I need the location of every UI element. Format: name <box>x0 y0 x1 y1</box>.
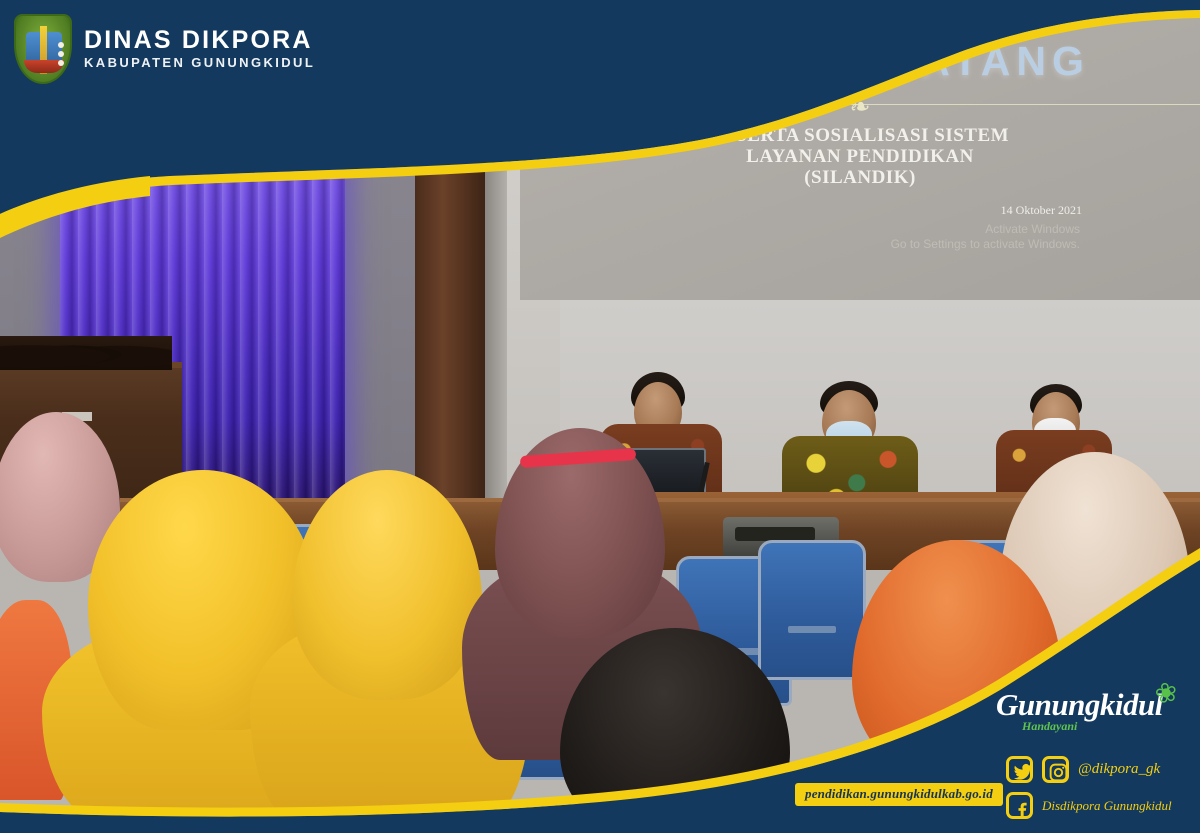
poster-header: DINAS DIKPORA KABUPATEN GUNUNGKIDUL <box>14 14 315 84</box>
page-subtitle: KABUPATEN GUNUNGKIDUL <box>84 55 315 71</box>
facebook-glyph <box>1012 798 1033 819</box>
header-text-group: DINAS DIKPORA KABUPATEN GUNUNGKIDUL <box>84 27 315 71</box>
instagram-glyph <box>1048 762 1069 783</box>
page-title: DINAS DIKPORA <box>84 27 315 53</box>
facebook-handle[interactable]: Disdikpora Gunungkidul <box>1042 798 1172 814</box>
social-row-top: @dikpora_gk <box>1006 756 1192 783</box>
facebook-icon[interactable] <box>1006 792 1033 819</box>
social-row-bottom: Disdikpora Gunungkidul <box>1006 792 1192 819</box>
twitter-glyph <box>1012 762 1033 783</box>
poster-bottom-edge <box>0 833 1200 839</box>
gunungkidul-regency-emblem-icon <box>14 14 72 84</box>
instagram-handle[interactable]: @dikpora_gk <box>1078 761 1160 778</box>
gunungkidul-brand-logo: ❀ Gunungkidul Handayani <box>996 688 1186 734</box>
event-poster: SELAMAT DATANG ❧ PESERTA SOSIALISASI SIS… <box>0 0 1200 839</box>
emblem-banner <box>24 60 64 73</box>
twitter-icon[interactable] <box>1006 756 1033 783</box>
social-media-links: @dikpora_gk Disdikpora Gunungkidul <box>1006 756 1192 828</box>
emblem-stars <box>58 42 64 48</box>
website-url-badge[interactable]: pendidikan.gunungkidulkab.go.id <box>795 783 1003 806</box>
instagram-icon[interactable] <box>1042 756 1069 783</box>
